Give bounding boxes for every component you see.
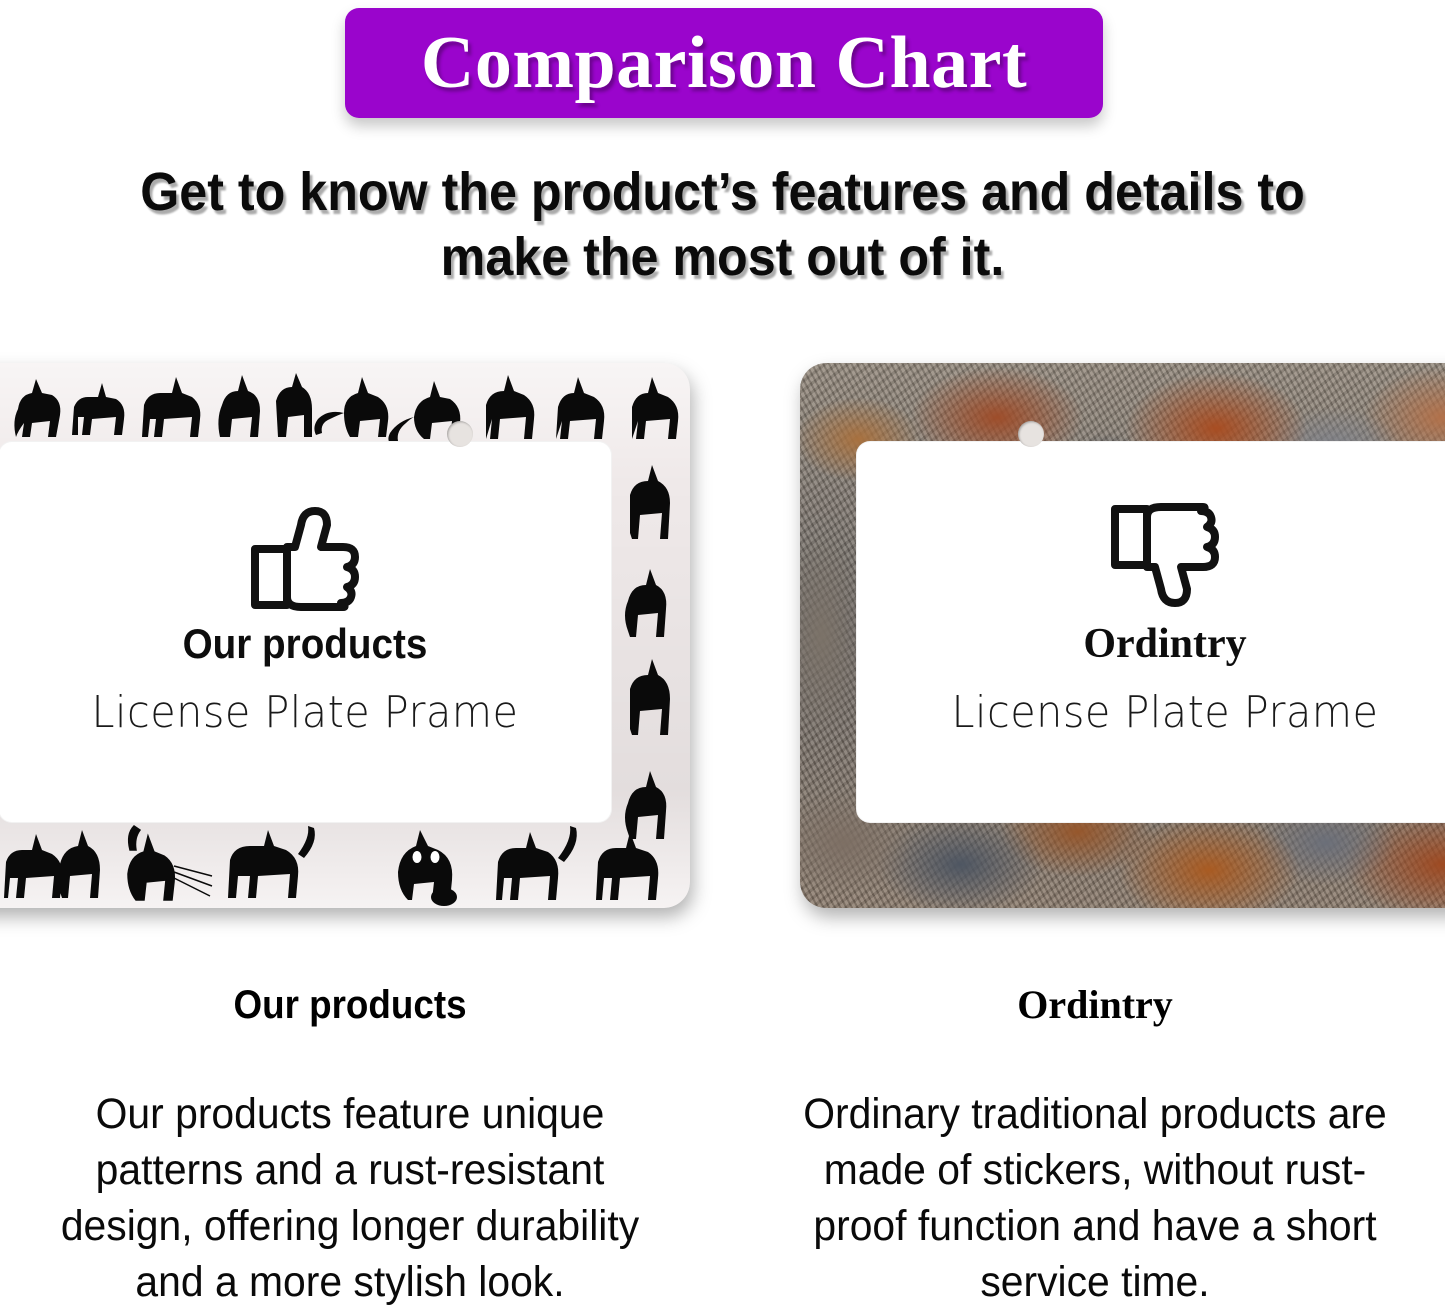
mounting-hole-ours xyxy=(447,421,473,447)
thumbs-up-icon xyxy=(0,503,690,611)
page-subtitle: Get to know the product’s features and d… xyxy=(51,160,1395,290)
product-comparison-frames: Our products License Plate Prame Ordintr… xyxy=(0,345,1445,925)
description-column-ours: Our products Our products feature unique… xyxy=(0,985,700,1311)
description-heading-ours: Our products xyxy=(28,985,672,1025)
license-plate-frame-ordinary: Ordintry License Plate Prame xyxy=(800,363,1445,908)
page-title: Comparison Chart xyxy=(421,26,1027,100)
comparison-descriptions: Our products Our products feature unique… xyxy=(0,985,1445,1315)
description-body-ordinary: Ordinary traditional products are made o… xyxy=(763,1087,1428,1311)
frame-label-group-ours: Our products License Plate Prame xyxy=(0,503,690,735)
frame-label-group-ordinary: Ordintry License Plate Prame xyxy=(856,503,1445,735)
mounting-hole-ordinary xyxy=(1018,421,1044,447)
frame-subtitle-ours: License Plate Prame xyxy=(0,691,667,735)
description-body-ours: Our products feature unique patterns and… xyxy=(18,1087,683,1311)
frame-brand-ordinary: Ordintry xyxy=(856,623,1445,665)
thumbs-down-icon xyxy=(856,503,1445,611)
frame-subtitle-ordinary: License Plate Prame xyxy=(875,691,1445,735)
frame-brand-ours: Our products xyxy=(0,623,659,665)
cat-silhouette-strip-top xyxy=(0,365,690,445)
license-plate-frame-ours: Our products License Plate Prame xyxy=(0,363,690,908)
description-heading-ordinary: Ordintry xyxy=(745,985,1445,1025)
description-column-ordinary: Ordintry Ordinary traditional products a… xyxy=(745,985,1445,1311)
comparison-chart-banner: Comparison Chart xyxy=(345,8,1103,118)
cat-silhouette-strip-bottom xyxy=(0,824,690,906)
